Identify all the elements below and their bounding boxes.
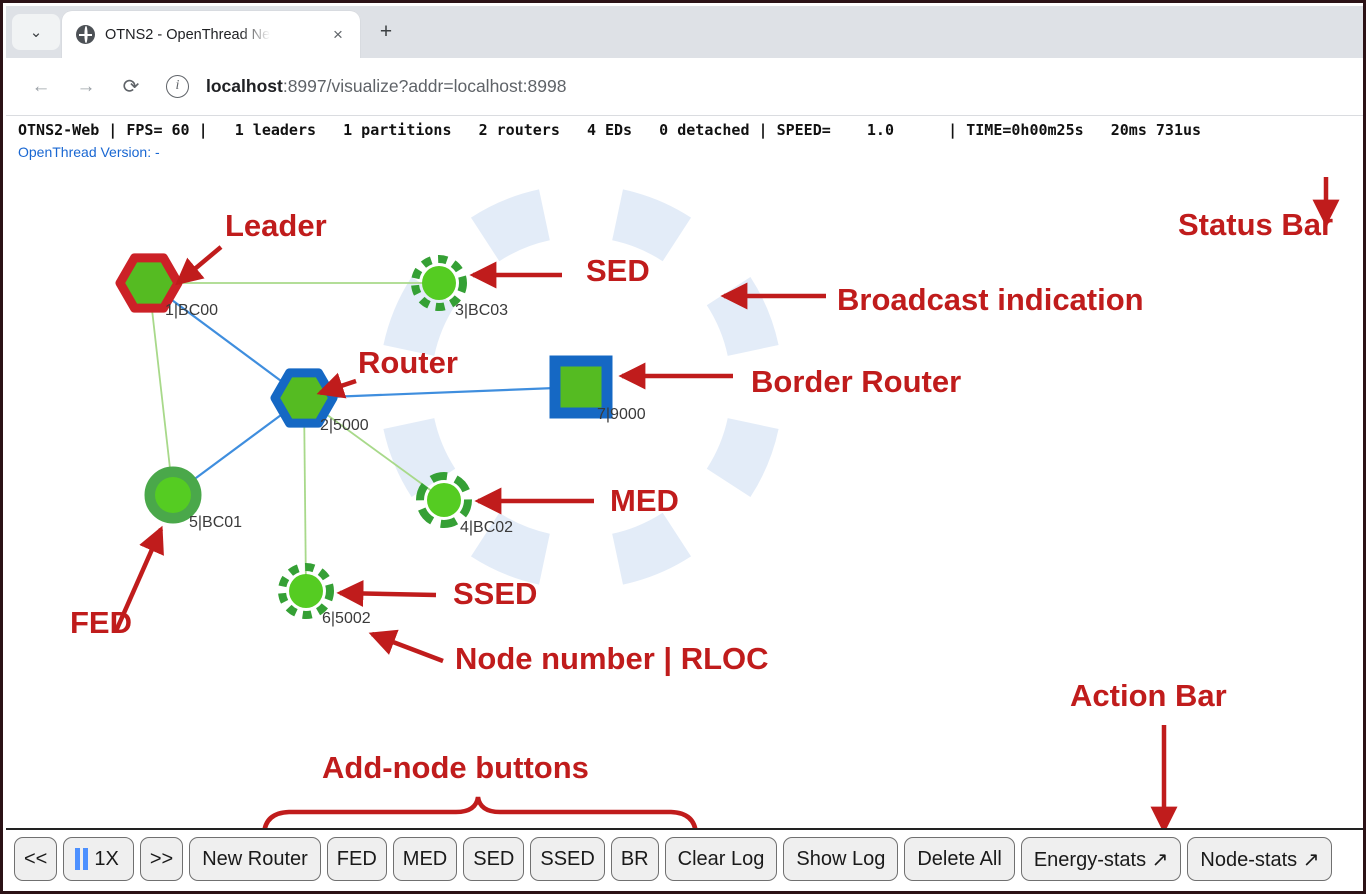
new-tab-button[interactable]: + (372, 18, 400, 46)
openthread-version: OpenThread Version: - (18, 144, 160, 160)
arrow-leader (178, 247, 221, 283)
back-icon[interactable]: ← (26, 72, 56, 102)
energy-stats-button[interactable]: Energy-stats ↗ (1021, 837, 1182, 881)
action-bar: <<1X>>New RouterFEDMEDSEDSSEDBRClear Log… (6, 828, 1366, 888)
clear-log-button[interactable]: Clear Log (665, 837, 778, 881)
node-4[interactable]: 4|BC02 (420, 476, 513, 536)
annotation-leader: Leader (225, 208, 327, 243)
globe-icon (76, 25, 95, 44)
node-5[interactable]: 5|BC01 (150, 472, 242, 531)
add-br-button[interactable]: BR (611, 837, 659, 881)
energy-stats-label: Energy-stats ↗ (1034, 847, 1169, 872)
annotation-broadcast: Broadcast indication (837, 282, 1144, 317)
speed-button[interactable]: 1X (63, 837, 133, 881)
delete-all-button[interactable]: Delete All (904, 837, 1015, 881)
node-1[interactable]: 1|BC00 (120, 258, 218, 319)
annotation-node-rloc: Node number | RLOC (455, 641, 769, 676)
annotation-ssed: SSED (453, 576, 537, 611)
add-br-label: BR (621, 848, 649, 871)
node-core[interactable] (289, 574, 323, 608)
pause-icon (74, 848, 89, 870)
node-6[interactable]: 6|5002 (282, 567, 371, 627)
nodes-group: 1|BC002|50003|BC034|BC025|BC016|50027|90… (120, 258, 646, 627)
forward-icon[interactable]: → (71, 72, 101, 102)
status-text: OTNS2-Web | FPS= 60 | 1 leaders 1 partit… (18, 121, 1201, 139)
step-back-button[interactable]: << (14, 837, 57, 881)
tab-list-chevron-icon[interactable]: ⌄ (12, 14, 60, 50)
node-label-7: 7|9000 (597, 406, 646, 423)
tab-otns2[interactable]: OTNS2 - OpenThread Ne × (62, 11, 360, 58)
close-icon[interactable]: × (328, 25, 348, 45)
node-hexagon[interactable] (275, 373, 333, 423)
node-label-6: 6|5002 (322, 610, 371, 627)
network-canvas[interactable]: 1|BC002|50003|BC034|BC025|BC016|50027|90… (6, 163, 1366, 834)
tab-strip: ⌄ OTNS2 - OpenThread Ne × + (6, 6, 1366, 58)
broadcast-arc (707, 418, 779, 497)
clear-log-label: Clear Log (678, 848, 765, 871)
add-sed-label: SED (473, 848, 514, 871)
broadcast-arc (707, 277, 779, 356)
add-fed-label: FED (337, 848, 377, 871)
arrow-fed (116, 529, 161, 631)
node-core[interactable] (422, 266, 456, 300)
node-label-2: 2|5000 (320, 417, 369, 434)
reload-icon[interactable]: ⟳ (116, 72, 146, 102)
broadcast-arc (471, 189, 550, 261)
browser-window: ⌄ OTNS2 - OpenThread Ne × + ← → ⟳ i loca… (0, 0, 1366, 894)
node-core[interactable] (155, 477, 191, 513)
node-label-1: 1|BC00 (165, 302, 218, 319)
annotation-overlay: LeaderSEDBroadcast indicationStatus BarR… (70, 177, 1333, 834)
node-label-4: 4|BC02 (460, 519, 513, 536)
step-back-label: << (24, 848, 47, 871)
speed-label: 1X (94, 848, 118, 871)
site-info-icon[interactable]: i (166, 75, 189, 98)
new-router-label: New Router (202, 848, 308, 871)
status-bar: OTNS2-Web | FPS= 60 | 1 leaders 1 partit… (6, 116, 1366, 163)
link-2-7 (304, 387, 581, 398)
step-forward-label: >> (150, 848, 173, 871)
arrow-ssed (340, 593, 436, 595)
add-ssed-label: SSED (540, 848, 594, 871)
node-stats-button[interactable]: Node-stats ↗ (1187, 837, 1332, 881)
url-path: :8997/visualize?addr=localhost:8998 (283, 76, 567, 96)
node-label-5: 5|BC01 (189, 514, 242, 531)
node-core[interactable] (427, 483, 461, 517)
url-text: localhost:8997/visualize?addr=localhost:… (206, 76, 566, 97)
broadcast-arc (612, 189, 691, 261)
add-med-label: MED (403, 848, 447, 871)
add-med-button[interactable]: MED (393, 837, 457, 881)
navigation-bar: ← → ⟳ i localhost:8997/visualize?addr=lo… (6, 58, 1366, 116)
show-log-label: Show Log (796, 848, 885, 871)
chevron-down-glyph: ⌄ (30, 23, 43, 41)
step-forward-button[interactable]: >> (140, 837, 183, 881)
node-7[interactable]: 7|9000 (555, 361, 646, 423)
add-fed-button[interactable]: FED (327, 837, 387, 881)
annotation-border-router: Border Router (751, 364, 961, 399)
annotation-add-node: Add-node buttons (322, 750, 589, 785)
add-sed-button[interactable]: SED (463, 837, 524, 881)
network-svg: 1|BC002|50003|BC034|BC025|BC016|50027|90… (6, 163, 1366, 834)
node-stats-label: Node-stats ↗ (1200, 847, 1319, 872)
add-ssed-button[interactable]: SSED (530, 837, 604, 881)
annotation-sed: SED (586, 253, 650, 288)
node-label-3: 3|BC03 (455, 302, 508, 319)
annotation-med: MED (610, 483, 679, 518)
address-bar[interactable]: i localhost:8997/visualize?addr=localhos… (166, 66, 1346, 106)
annotation-action-bar: Action Bar (1070, 678, 1227, 713)
annotation-router: Router (358, 345, 458, 380)
url-host: localhost (206, 76, 283, 96)
arrow-node-rloc (372, 634, 443, 661)
new-router-button[interactable]: New Router (189, 837, 321, 881)
annotation-status-bar: Status Bar (1178, 207, 1333, 242)
tab-title: OTNS2 - OpenThread Ne (105, 27, 270, 43)
node-hexagon[interactable] (120, 258, 178, 308)
delete-all-label: Delete All (917, 848, 1002, 871)
broadcast-arc (612, 513, 691, 585)
show-log-button[interactable]: Show Log (783, 837, 898, 881)
